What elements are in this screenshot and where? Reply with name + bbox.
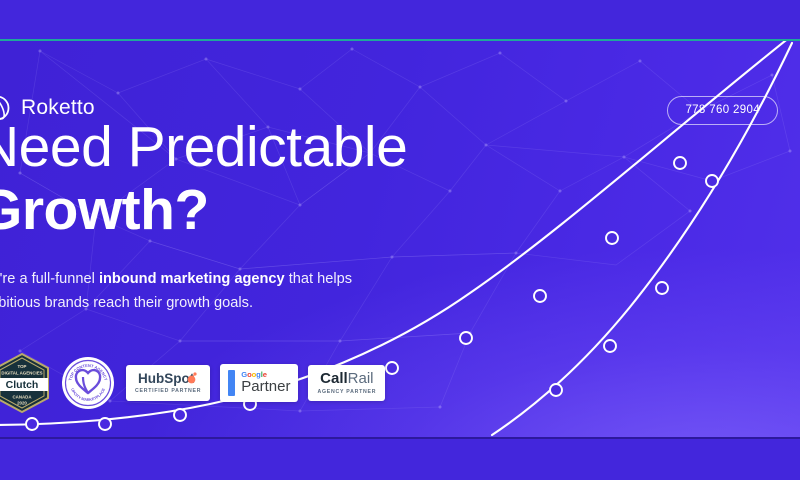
hubspot-badge[interactable]: HubSpot CERTIFIED PARTNER xyxy=(126,365,210,401)
hubspot-wordmark: HubSpot xyxy=(138,372,194,386)
upcity-badge[interactable]: TOP CONTENT AGENCY UPCITY MARKETPLACE xyxy=(60,353,116,413)
callrail-wordmark-bold: Call xyxy=(320,371,348,386)
roketto-orbit-mark xyxy=(0,93,12,123)
callrail-badge[interactable]: Call Rail AGENCY PARTNER xyxy=(308,365,385,401)
hubspot-partner-level: CERTIFIED PARTNER xyxy=(135,388,201,394)
headline-line-2: Growth? xyxy=(0,182,518,239)
hero-lead-paragraph: We're a full-funnel inbound marketing ag… xyxy=(0,268,353,315)
lead-text-part-1: We're a full-funnel xyxy=(0,271,99,287)
svg-text:TOP: TOP xyxy=(18,364,27,369)
brand-name: Roketto xyxy=(21,96,95,120)
page-title: Need Predictable Growth? xyxy=(0,119,518,239)
svg-text:2020: 2020 xyxy=(17,401,27,406)
svg-text:DIGITAL AGENCIES: DIGITAL AGENCIES xyxy=(1,371,42,376)
accent-rule xyxy=(0,39,800,41)
below-fold-band xyxy=(0,439,800,480)
headline-line-1: Need Predictable xyxy=(0,119,518,176)
section-divider xyxy=(0,437,800,439)
hubspot-sprocket-icon xyxy=(187,371,198,384)
partner-badges: TOP DIGITAL AGENCIES Clutch CANADA 2020 … xyxy=(0,353,385,413)
clutch-badge[interactable]: TOP DIGITAL AGENCIES Clutch CANADA 2020 xyxy=(0,353,50,413)
page-root: Roketto 778 760 2904 Need Predictable Gr… xyxy=(0,0,800,480)
brand-logo[interactable]: Roketto xyxy=(0,93,95,123)
phone-number-button[interactable]: 778 760 2904 xyxy=(667,96,778,125)
google-partner-bar-icon xyxy=(228,370,235,396)
hero-section: Roketto 778 760 2904 Need Predictable Gr… xyxy=(0,41,800,437)
callrail-wordmark-light: Rail xyxy=(348,371,374,386)
hero-copy: Need Predictable Growth? We're a full-fu… xyxy=(0,119,518,315)
svg-text:Clutch: Clutch xyxy=(6,379,39,391)
top-band xyxy=(0,0,800,40)
callrail-partner-level: AGENCY PARTNER xyxy=(317,389,376,395)
svg-text:CANADA: CANADA xyxy=(12,395,32,400)
google-partner-label: Partner xyxy=(241,379,290,395)
lead-text-emphasis: inbound marketing agency xyxy=(99,271,285,287)
google-partner-badge[interactable]: Google Partner xyxy=(220,364,298,402)
